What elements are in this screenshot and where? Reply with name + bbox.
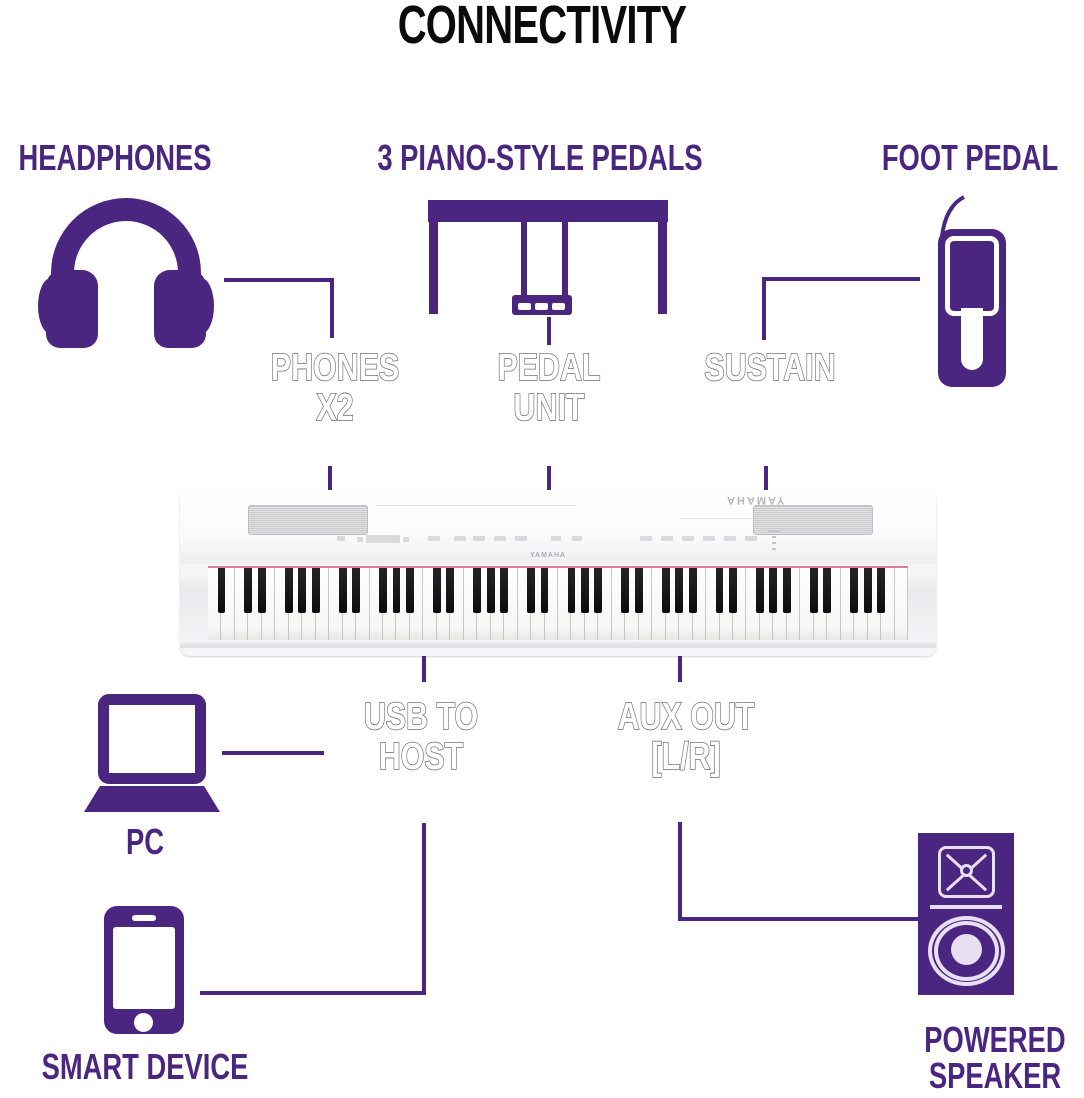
piano-black-key[interactable] xyxy=(500,568,508,613)
piano-black-key[interactable] xyxy=(339,568,347,613)
headphones-label: HEADPHONES xyxy=(0,139,237,177)
page-title: CONNECTIVITY xyxy=(141,0,943,54)
piano-button-metronome[interactable] xyxy=(428,536,440,541)
port-aux-line2: [L/R] xyxy=(578,737,794,777)
piano-voice-e-piano[interactable] xyxy=(661,536,673,541)
piano-black-key[interactable] xyxy=(446,568,454,613)
laptop-screen xyxy=(98,694,206,784)
port-phones-line2: X2 xyxy=(227,388,443,428)
piano-black-key[interactable] xyxy=(864,568,872,613)
piano-button-rhythm[interactable] xyxy=(454,536,466,541)
connector-speaker-h xyxy=(678,917,918,921)
port-sustain-line1: SUSTAIN xyxy=(666,348,874,388)
piano-voice-strings[interactable] xyxy=(703,536,715,541)
piano-black-key[interactable] xyxy=(662,568,670,613)
piano-voice-grand-piano[interactable] xyxy=(640,536,652,541)
piano-black-key[interactable] xyxy=(689,568,697,613)
pedal-unit-rod-right xyxy=(562,222,568,297)
piano-black-key[interactable] xyxy=(527,568,535,613)
piano-indicator-4 xyxy=(772,548,776,550)
smartphone-earpiece xyxy=(132,915,156,921)
piano-indicator-1 xyxy=(768,530,780,532)
headphones-pad-right xyxy=(188,278,214,334)
port-usb-line2: HOST xyxy=(313,737,529,777)
piano-black-key[interactable] xyxy=(298,568,306,613)
smart-device-label: SMART DEVICE xyxy=(8,1048,282,1086)
piano-black-key[interactable] xyxy=(393,568,401,613)
pedal-unit-leg-left xyxy=(429,222,438,314)
connector-pc-h xyxy=(222,751,324,755)
foot-pedal-plate xyxy=(945,236,999,316)
piano-black-key[interactable] xyxy=(756,568,764,613)
piano-keybed[interactable] xyxy=(208,568,908,640)
piano-button-tempo[interactable] xyxy=(473,536,485,541)
piano-black-key[interactable] xyxy=(218,568,226,613)
connector-footpedal-h xyxy=(762,277,920,281)
piano-black-key[interactable] xyxy=(850,568,858,613)
digital-piano: YAMAHA YAMAHA xyxy=(180,490,936,656)
foot-pedal-slot xyxy=(961,308,983,370)
piano-black-key[interactable] xyxy=(716,568,724,613)
piano-white-key[interactable] xyxy=(895,568,908,640)
piano-voice-bass[interactable] xyxy=(724,536,736,541)
connector-phones-to-piano xyxy=(328,466,332,493)
connector-usb-down-v xyxy=(422,823,426,991)
piano-black-key[interactable] xyxy=(729,568,737,613)
connector-pedal-unit-v xyxy=(547,317,551,345)
piano-button-play[interactable] xyxy=(515,536,527,541)
piano-black-key[interactable] xyxy=(675,568,683,613)
connector-aux-down-v xyxy=(678,822,682,921)
connector-headphones-v xyxy=(330,278,334,338)
piano-button-function[interactable] xyxy=(572,536,582,541)
piano-brand-right: YAMAHA xyxy=(725,494,784,506)
piano-black-key[interactable] xyxy=(877,568,885,613)
piano-black-key[interactable] xyxy=(568,568,576,613)
pedal-unit-leg-right xyxy=(658,222,667,314)
speaker-tweeter-center xyxy=(960,864,973,877)
port-aux-line1: AUX OUT xyxy=(578,697,794,737)
piano-black-key[interactable] xyxy=(379,568,387,613)
port-label-sustain: SUSTAIN xyxy=(666,348,874,388)
piano-black-key[interactable] xyxy=(769,568,777,613)
piano-front-edge xyxy=(180,642,936,648)
port-label-pedal-unit: PEDAL UNIT xyxy=(449,348,649,428)
piano-display-volume[interactable] xyxy=(366,535,400,543)
piano-black-key[interactable] xyxy=(258,568,266,613)
piano-black-key[interactable] xyxy=(621,568,629,613)
connector-piano-to-usb xyxy=(422,654,426,682)
piano-black-key[interactable] xyxy=(823,568,831,613)
piano-black-key[interactable] xyxy=(473,568,481,613)
powered-speaker-label: POWERED SPEAKER xyxy=(881,1022,1084,1094)
piano-panel-seam xyxy=(376,505,576,506)
port-pedal-line2: UNIT xyxy=(449,388,649,428)
piano-black-key[interactable] xyxy=(244,568,252,613)
piano-button-demo[interactable] xyxy=(551,536,561,541)
piano-black-key[interactable] xyxy=(312,568,320,613)
connector-sustain-to-piano xyxy=(764,466,768,493)
connector-smartdevice-h xyxy=(200,991,426,995)
piano-indicator-3 xyxy=(772,542,776,544)
pedal-unit-rod-left xyxy=(521,222,527,297)
piano-black-key[interactable] xyxy=(352,568,360,613)
piano-black-key[interactable] xyxy=(406,568,414,613)
piano-black-key[interactable] xyxy=(581,568,589,613)
pedal-soft xyxy=(518,303,531,310)
foot-pedal-label: FOOT PEDAL xyxy=(841,139,1084,177)
smartphone-screen xyxy=(113,927,175,1009)
smartphone-home-button[interactable] xyxy=(134,1013,153,1032)
piano-button-power[interactable] xyxy=(337,536,345,541)
speaker-divider xyxy=(930,905,1002,909)
port-pedal-line1: PEDAL xyxy=(449,348,649,388)
smartphone-icon xyxy=(104,906,184,1034)
headphones-icon xyxy=(38,198,214,333)
port-usb-line1: USB TO xyxy=(313,697,529,737)
headphones-pad-left xyxy=(38,278,64,334)
connectivity-diagram: CONNECTIVITY HEADPHONES 3 PIANO-STYLE PE… xyxy=(0,0,1084,1098)
piano-black-key[interactable] xyxy=(285,568,293,613)
piano-button-vol-up[interactable] xyxy=(403,537,409,542)
piano-voice-organ[interactable] xyxy=(682,536,694,541)
piano-black-key[interactable] xyxy=(810,568,818,613)
piano-button-record[interactable] xyxy=(494,536,506,541)
laptop-icon xyxy=(84,694,220,812)
port-label-usb-to-host: USB TO HOST xyxy=(313,697,529,777)
piano-speaker-grille-left xyxy=(248,505,368,535)
speaker-woofer-cone xyxy=(951,934,982,965)
piano-black-key[interactable] xyxy=(487,568,495,613)
pedal-unit-label: 3 PIANO-STYLE PEDALS xyxy=(335,139,745,177)
piano-brand-center: YAMAHA xyxy=(530,552,566,559)
laptop-base xyxy=(84,786,220,812)
connector-pedal-to-piano xyxy=(547,466,551,493)
powered-speaker-label-line2: SPEAKER xyxy=(881,1058,1084,1094)
piano-voice-vibraphone[interactable] xyxy=(745,536,757,541)
piano-button-vol-down[interactable] xyxy=(357,537,363,542)
piano-panel-seam-right xyxy=(680,518,752,519)
pedal-sostenuto xyxy=(535,303,548,310)
pedal-damper xyxy=(552,303,565,310)
pedal-unit-crossbar xyxy=(428,200,668,222)
connector-piano-to-aux xyxy=(678,654,682,682)
piano-black-key[interactable] xyxy=(594,568,602,613)
connector-headphones-h xyxy=(224,278,334,282)
foot-pedal-icon xyxy=(912,195,1032,400)
pc-label: PC xyxy=(77,823,214,861)
port-label-aux-out: AUX OUT [L/R] xyxy=(578,697,794,777)
port-label-phones: PHONES X2 xyxy=(227,348,443,428)
connector-footpedal-v xyxy=(762,277,766,340)
pedal-unit-icon xyxy=(428,200,668,320)
powered-speaker-icon xyxy=(918,833,1014,995)
powered-speaker-label-line1: POWERED xyxy=(881,1022,1084,1058)
piano-black-key[interactable] xyxy=(635,568,643,613)
piano-black-key[interactable] xyxy=(783,568,791,613)
piano-black-key[interactable] xyxy=(433,568,441,613)
port-phones-line1: PHONES xyxy=(227,348,443,388)
piano-indicator-2 xyxy=(772,536,776,538)
piano-black-key[interactable] xyxy=(541,568,549,613)
